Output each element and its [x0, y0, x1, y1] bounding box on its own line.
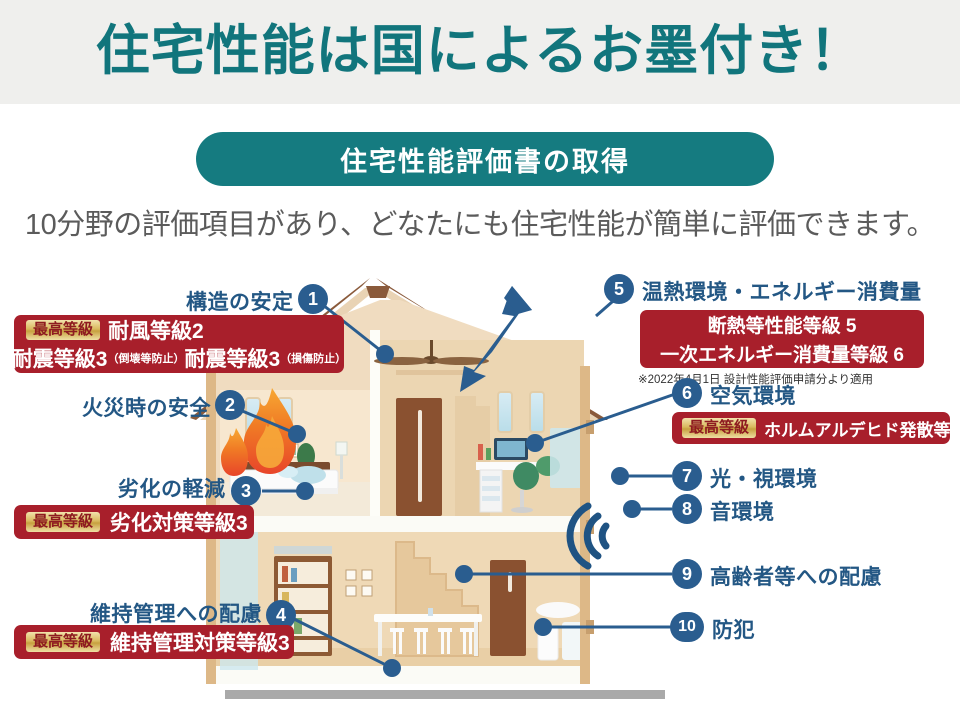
item-number-2: 2: [215, 390, 245, 420]
grade-text-5a: 断熱等性能等級 5: [708, 311, 857, 338]
ceiling-fan-rod: [430, 340, 433, 358]
bedroom-lamp: [336, 442, 347, 455]
desk-item-1: [478, 444, 483, 460]
item-number-6: 6: [672, 378, 702, 408]
grade-box-6: 最高等級 ホルムアルデヒド発散等級3: [672, 412, 950, 444]
item-label-4: 維持管理への配慮: [90, 598, 262, 628]
lower-frame-1: [346, 570, 356, 580]
grade-text-6: ホルムアルデヒド発散等級3: [764, 416, 960, 441]
grade-box-3: 最高等級 劣化対策等級3: [14, 505, 254, 539]
item-number-9: 9: [672, 559, 702, 589]
item-label-10: 防犯: [712, 614, 755, 644]
lower-frame-3: [346, 586, 356, 596]
front-door-handle-plate: [418, 410, 422, 502]
desk-item-2: [486, 448, 491, 460]
item-number-1: 1: [298, 284, 328, 314]
item-label-6: 空気環境: [710, 380, 796, 410]
item-number-5: 5: [604, 274, 634, 304]
item-label-1: 構造の安定: [186, 286, 294, 316]
item-label-2: 火災時の安全: [82, 392, 211, 422]
grade-note-1c: （損傷防止）: [280, 350, 346, 366]
grade-box-1: 最高等級 耐風等級2 耐震等級3 （倒壊等防止） 耐震等級3 （損傷防止）: [14, 315, 344, 373]
bookshelf-topbox: [274, 546, 332, 554]
lower-frame-4: [362, 586, 372, 596]
item-label-5: 温熱環境・エネルギー消費量: [642, 276, 922, 306]
item-number-10: 10: [670, 612, 704, 642]
grade-box-5: 断熱等性能等級 5 一次エネルギー消費量等級 6: [640, 310, 924, 368]
right-glass-panel: [550, 428, 584, 488]
item-number-3: 3: [231, 476, 261, 506]
item-label-9: 高齢者等への配慮: [710, 561, 882, 591]
roof-ridge: [366, 286, 390, 298]
grade-badge-4: 最高等級: [26, 632, 100, 652]
upper-right-window-1: [498, 392, 512, 432]
grade-box-4: 最高等級 維持管理対策等級3: [14, 625, 294, 659]
grade-text-1c: 耐震等級3: [185, 343, 281, 373]
bath-counter: [536, 602, 580, 618]
grade-text-5b: 一次エネルギー消費量等級 6: [660, 340, 904, 367]
item-number-8: 8: [672, 494, 702, 524]
grade-text-4: 維持管理対策等級3: [110, 627, 290, 657]
lower-frame-2: [362, 570, 372, 580]
grade-text-1a: 耐風等級2: [108, 315, 204, 345]
ground-line: [225, 690, 665, 699]
desk-chair-back: [513, 462, 539, 490]
item-number-7: 7: [672, 461, 702, 491]
grade-text-3: 劣化対策等級3: [110, 507, 248, 537]
floor-slab: [212, 516, 584, 532]
ceiling-beam: [396, 370, 470, 375]
item-label-3: 劣化の軽減: [118, 473, 226, 503]
infographic-page: 住宅性能は国によるお墨付き！ 住宅性能評価書の取得 10分野の評価項目があり、ど…: [0, 0, 960, 720]
grade-badge-1: 最高等級: [26, 320, 100, 340]
table-bottle: [428, 608, 433, 616]
item-label-8: 音環境: [710, 496, 775, 526]
grade-note-1b: （倒壊等防止）: [108, 350, 185, 366]
upper-right-window-2: [530, 392, 544, 432]
center-partition: [370, 330, 380, 516]
grade-badge-3: 最高等級: [26, 512, 100, 532]
toilet: [538, 626, 558, 660]
lower-floor-base: [212, 666, 584, 684]
ceiling-fan-blade-left: [374, 357, 430, 365]
item-label-7: 光・視環境: [710, 463, 818, 493]
grade-badge-6: 最高等級: [682, 418, 756, 438]
grade-text-1b: 耐震等級3: [12, 343, 108, 373]
